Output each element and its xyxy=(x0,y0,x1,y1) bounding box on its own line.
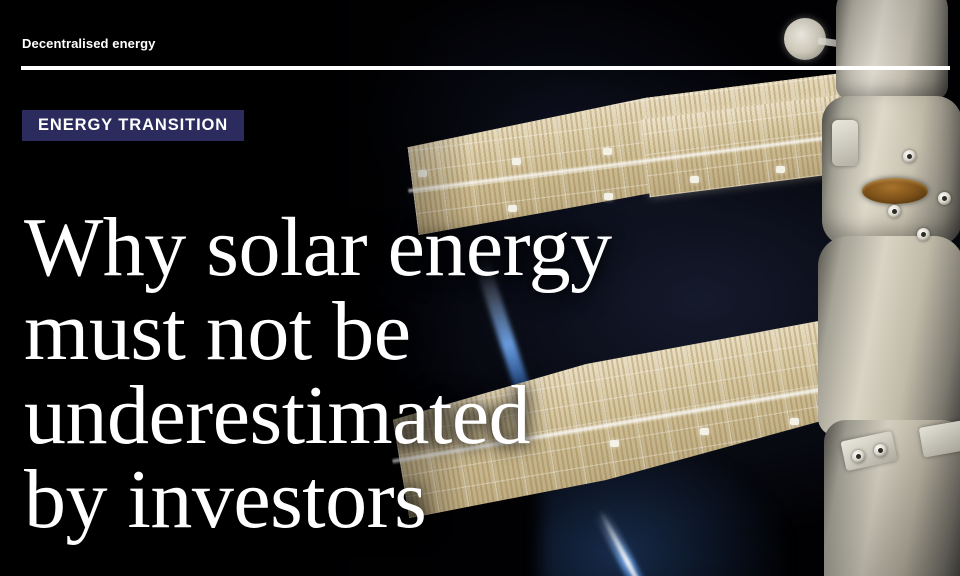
article-hero: Decentralised energy ENERGY TRANSITION W… xyxy=(0,0,960,576)
hero-content: Decentralised energy ENERGY TRANSITION W… xyxy=(0,0,960,576)
headline-line-2: must not be xyxy=(24,290,744,374)
category-badge-label: ENERGY TRANSITION xyxy=(38,116,228,135)
section-kicker: Decentralised energy xyxy=(22,36,156,51)
headline-line-4: by investors xyxy=(24,458,744,542)
headline-line-1: Why solar energy xyxy=(24,206,744,290)
header-rule xyxy=(21,66,950,70)
category-badge[interactable]: ENERGY TRANSITION xyxy=(22,110,244,141)
page-title: Why solar energy must not be underestima… xyxy=(24,206,744,542)
headline-line-3: underestimated xyxy=(24,374,744,458)
